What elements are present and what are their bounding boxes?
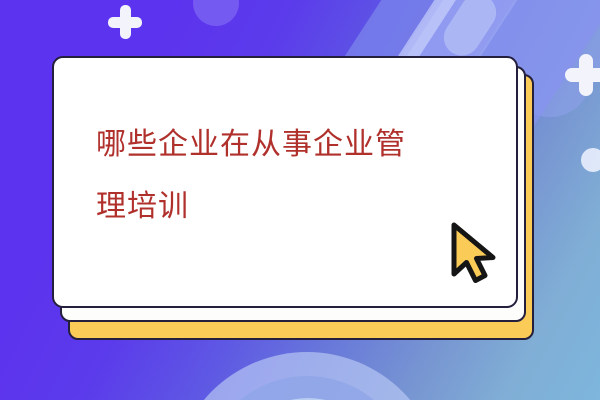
plus-icon-bar-vertical [120, 5, 131, 39]
plus-icon-bar-vertical [579, 54, 593, 96]
plus-icon [565, 54, 600, 96]
right-circle-decoration [581, 148, 600, 172]
top-circle-decoration [193, 0, 239, 26]
poster-canvas: 哪些企业在从事企业管 理培训 [0, 0, 600, 400]
page-title: 哪些企业在从事企业管 理培训 [96, 114, 486, 238]
arrow-cursor-icon [448, 222, 502, 284]
plus-icon [108, 5, 142, 39]
